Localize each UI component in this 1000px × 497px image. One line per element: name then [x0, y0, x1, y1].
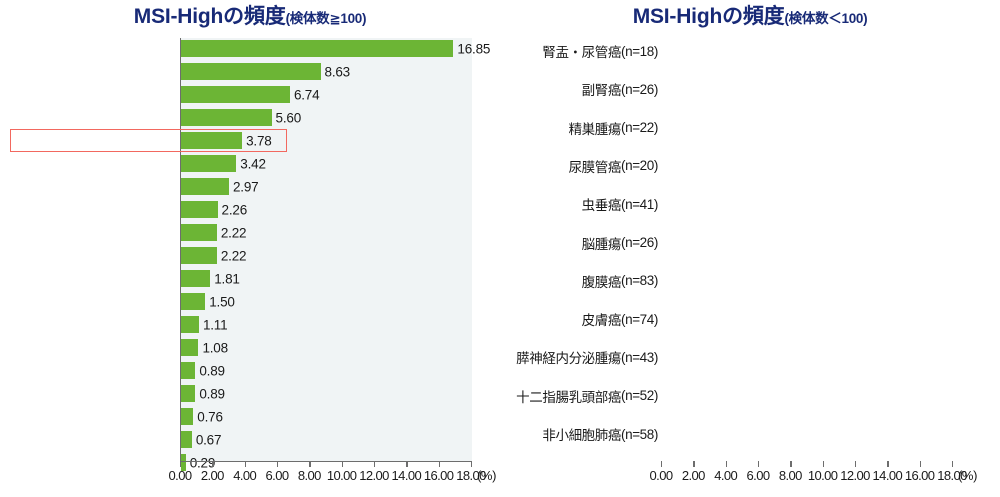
bar-value-label: 2.22 — [221, 248, 246, 263]
category-label: 精巣腫瘍(n=22) — [569, 119, 658, 137]
axis-tick — [661, 461, 662, 467]
bar — [181, 155, 236, 172]
axis-tick — [823, 461, 824, 467]
bar-row: 1.81 — [181, 270, 472, 287]
axis-tick — [952, 461, 953, 467]
axis-tick-label: 8.00 — [779, 468, 802, 483]
bar — [181, 201, 218, 218]
bar — [181, 293, 205, 310]
category-n-prefix: (n= — [621, 120, 640, 135]
category-name: 脳腫瘍 — [582, 233, 621, 253]
category-label: 副腎癌(n=26) — [582, 80, 658, 98]
category-name: 皮膚癌 — [582, 309, 621, 329]
axis-tick — [406, 461, 407, 467]
bar-value-label: 3.78 — [246, 133, 271, 148]
axis-tick-label: 12.00 — [840, 468, 870, 483]
chart-panel-left: MSI-Highの頻度(検体数≧100) 16.858.636.745.603.… — [0, 0, 500, 497]
bar — [181, 316, 199, 333]
axis-tick — [471, 461, 472, 467]
bar — [181, 132, 242, 149]
bar-value-label: 6.74 — [294, 87, 319, 102]
category-n-value: 20 — [640, 158, 654, 173]
bar-row: 1.50 — [181, 293, 472, 310]
category-n-prefix: (n= — [621, 197, 640, 212]
axis-tick — [855, 461, 856, 467]
axis-tick — [309, 461, 310, 467]
bar-value-label: 5.60 — [276, 110, 301, 125]
category-name: 精巣腫瘍 — [569, 118, 621, 138]
category-n-suffix: ) — [654, 273, 658, 288]
axis-tick-label: 12.00 — [359, 468, 389, 483]
axis-tick-label: 14.00 — [392, 468, 422, 483]
category-label: 脳腫瘍(n=26) — [582, 234, 658, 252]
bar-value-label: 1.11 — [203, 317, 227, 332]
axis-tick-label: 0.00 — [169, 468, 192, 483]
bar — [181, 270, 210, 287]
bar-value-label: 2.22 — [221, 225, 246, 240]
x-axis-left — [180, 461, 471, 462]
bar-value-label: 8.63 — [325, 64, 350, 79]
bar-row: 1.08 — [181, 339, 472, 356]
bar — [181, 86, 290, 103]
chart-page: MSI-Highの頻度(検体数≧100) 16.858.636.745.603.… — [0, 0, 1000, 497]
category-name: 膵神経内分泌腫瘍 — [516, 347, 621, 367]
category-n-prefix: (n= — [621, 273, 640, 288]
axis-tick-label: 2.00 — [682, 468, 705, 483]
bar-value-label: 2.97 — [233, 179, 258, 194]
category-n-prefix: (n= — [621, 388, 640, 403]
category-n-prefix: (n= — [621, 44, 640, 59]
bar-row: 0.89 — [181, 362, 472, 379]
bar-row: 2.22 — [181, 224, 472, 241]
category-label: 虫垂癌(n=41) — [582, 195, 658, 213]
bar — [181, 40, 453, 57]
bar-value-label: 1.50 — [209, 294, 234, 309]
category-label: 皮膚癌(n=74) — [582, 310, 658, 328]
axis-tick — [245, 461, 246, 467]
bar — [181, 224, 217, 241]
category-n-value: 22 — [640, 120, 654, 135]
axis-tick — [374, 461, 375, 467]
category-n-value: 83 — [640, 273, 654, 288]
category-name: 腹膜癌 — [582, 271, 621, 291]
category-n-suffix: ) — [654, 82, 658, 97]
bar-value-label: 0.89 — [199, 363, 224, 378]
bar-row: 2.26 — [181, 201, 472, 218]
category-n-suffix: ) — [654, 158, 658, 173]
axis-tick — [439, 461, 440, 467]
category-n-value: 26 — [640, 235, 654, 250]
axis-tick-label: 10.00 — [808, 468, 838, 483]
axis-tick — [277, 461, 278, 467]
chart-title-main-right: MSI-Highの頻度 — [633, 5, 785, 28]
chart-panel-right: MSI-Highの頻度(検体数＜100) 16.6711.549.095.004… — [500, 0, 1000, 497]
plot-area-left: 16.858.636.745.603.783.422.972.262.222.2… — [180, 38, 472, 461]
category-n-prefix: (n= — [621, 427, 640, 442]
bar-row: 3.78 — [181, 132, 472, 149]
category-label: 膵神経内分泌腫瘍(n=43) — [516, 348, 658, 366]
chart-title-left: MSI-Highの頻度(検体数≧100) — [0, 6, 500, 27]
category-label: 尿膜管癌(n=20) — [569, 157, 658, 175]
bar-value-label: 1.81 — [214, 271, 239, 286]
category-n-suffix: ) — [654, 120, 658, 135]
axis-unit-label: (%) — [958, 468, 977, 483]
category-n-value: 43 — [640, 350, 654, 365]
category-n-prefix: (n= — [621, 350, 640, 365]
bar — [181, 109, 272, 126]
axis-tick — [212, 461, 213, 467]
category-name: 尿膜管癌 — [569, 156, 621, 176]
bar-row: 0.76 — [181, 408, 472, 425]
bar-row: 0.67 — [181, 431, 472, 448]
bar — [181, 339, 198, 356]
bar-row: 1.11 — [181, 316, 472, 333]
category-n-suffix: ) — [654, 197, 658, 212]
bar-row: 6.74 — [181, 86, 472, 103]
category-label: 十二指腸乳頭部癌(n=52) — [516, 387, 658, 405]
axis-tick — [790, 461, 791, 467]
axis-tick-label: 4.00 — [233, 468, 256, 483]
axis-tick — [758, 461, 759, 467]
bar-value-label: 16.85 — [457, 41, 490, 56]
bar — [181, 247, 217, 264]
axis-tick — [180, 461, 181, 467]
axis-tick — [726, 461, 727, 467]
category-n-suffix: ) — [654, 388, 658, 403]
axis-tick-label: 14.00 — [873, 468, 903, 483]
axis-tick — [920, 461, 921, 467]
axis-tick-label: 6.00 — [266, 468, 289, 483]
bar-value-label: 3.42 — [240, 156, 265, 171]
category-n-value: 52 — [640, 388, 654, 403]
axis-unit-label: (%) — [477, 468, 496, 483]
category-n-prefix: (n= — [621, 312, 640, 327]
axis-tick-label: 10.00 — [327, 468, 357, 483]
chart-title-main-left: MSI-Highの頻度 — [134, 5, 286, 28]
bar — [181, 178, 229, 195]
bar-row: 16.85 — [181, 40, 472, 57]
bar-value-label: 0.76 — [197, 409, 222, 424]
bar-value-label: 0.89 — [199, 386, 224, 401]
bar-row: 8.63 — [181, 63, 472, 80]
bar — [181, 63, 321, 80]
axis-tick-label: 16.00 — [905, 468, 935, 483]
category-n-suffix: ) — [654, 235, 658, 250]
axis-tick-label: 6.00 — [747, 468, 770, 483]
bar-row: 3.42 — [181, 155, 472, 172]
category-name: 腎盂・尿管癌 — [542, 41, 621, 61]
chart-title-right: MSI-Highの頻度(検体数＜100) — [500, 6, 1000, 27]
bar-row: 2.97 — [181, 178, 472, 195]
category-n-prefix: (n= — [621, 235, 640, 250]
chart-title-subtitle-right: (検体数＜100) — [784, 11, 867, 26]
bar-row: 2.22 — [181, 247, 472, 264]
axis-tick-label: 16.00 — [424, 468, 454, 483]
bar-value-label: 0.67 — [196, 432, 221, 447]
bar-row: 0.89 — [181, 385, 472, 402]
axis-tick-label: 8.00 — [298, 468, 321, 483]
category-n-value: 26 — [640, 82, 654, 97]
bar — [181, 408, 193, 425]
category-n-value: 41 — [640, 197, 654, 212]
axis-tick-label: 4.00 — [714, 468, 737, 483]
category-n-suffix: ) — [654, 350, 658, 365]
axis-tick — [887, 461, 888, 467]
axis-tick-label: 2.00 — [201, 468, 224, 483]
category-n-prefix: (n= — [621, 82, 640, 97]
bar-value-label: 2.26 — [222, 202, 247, 217]
category-n-suffix: ) — [654, 44, 658, 59]
category-n-suffix: ) — [654, 312, 658, 327]
axis-tick — [342, 461, 343, 467]
bar — [181, 385, 195, 402]
category-n-prefix: (n= — [621, 158, 640, 173]
axis-tick-label: 0.00 — [650, 468, 673, 483]
bar-value-label: 1.08 — [202, 340, 227, 355]
category-name: 虫垂癌 — [582, 194, 621, 214]
bar — [181, 431, 192, 448]
category-name: 副腎癌 — [582, 79, 621, 99]
category-label: 腎盂・尿管癌(n=18) — [542, 42, 658, 60]
category-name: 非小細胞肺癌 — [542, 424, 621, 444]
category-name: 十二指腸乳頭部癌 — [516, 386, 621, 406]
bar — [181, 362, 195, 379]
bar-row: 5.60 — [181, 109, 472, 126]
category-label: 非小細胞肺癌(n=58) — [542, 425, 658, 443]
axis-tick — [693, 461, 694, 467]
category-n-value: 74 — [640, 312, 654, 327]
category-n-suffix: ) — [654, 427, 658, 442]
category-n-value: 58 — [640, 427, 654, 442]
chart-title-subtitle-left: (検体数≧100) — [286, 11, 367, 26]
category-n-value: 18 — [640, 44, 654, 59]
category-label: 腹膜癌(n=83) — [582, 272, 658, 290]
